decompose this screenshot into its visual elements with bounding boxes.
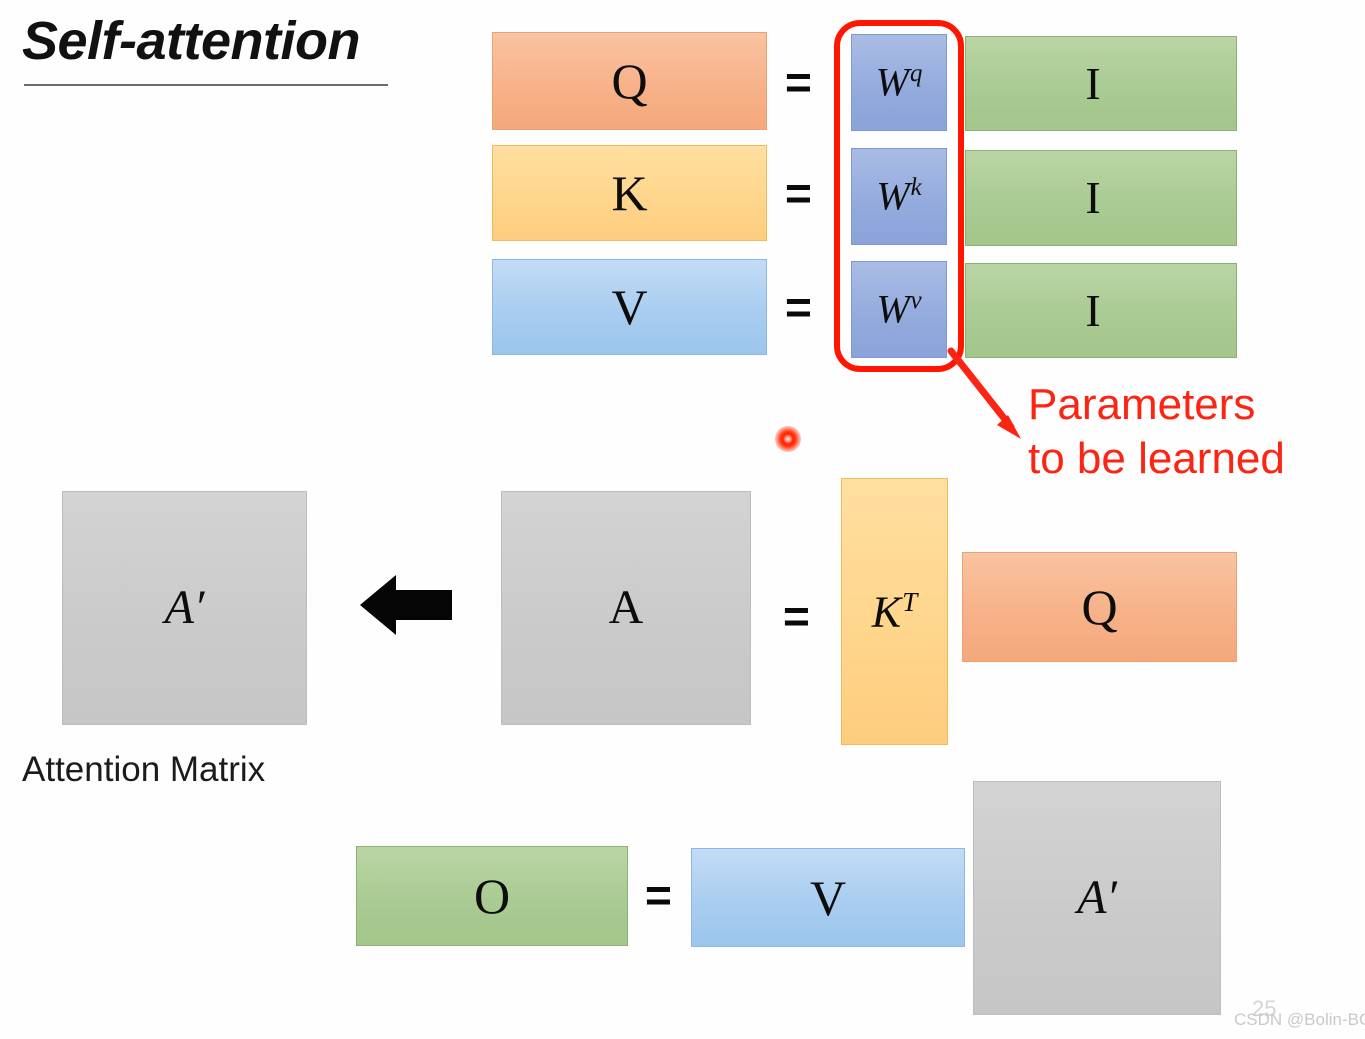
matrix-box-k: K xyxy=(492,145,767,241)
title-underline xyxy=(24,84,388,86)
matrix-box-v-top: V xyxy=(492,259,767,355)
matrix-label-q: Q xyxy=(611,56,647,106)
equals-sign-attention: = xyxy=(783,593,810,639)
weight-symbol-wk: W xyxy=(876,174,909,219)
matrix-box-a-prime-left: A′ xyxy=(62,491,307,725)
laser-pointer-dot xyxy=(775,426,801,452)
weight-symbol-wq: W xyxy=(876,60,909,105)
equals-sign-row3: = xyxy=(785,284,812,330)
matrix-box-i-row2: I xyxy=(965,150,1237,246)
matrix-label-a: A xyxy=(609,584,644,632)
weight-superscript-k: k xyxy=(911,174,922,201)
matrix-box-q-attention: Q xyxy=(962,552,1237,662)
page-title: Self-attention xyxy=(22,10,360,72)
transpose-superscript: T xyxy=(902,587,917,617)
matrix-box-q-top: Q xyxy=(492,32,767,130)
matrix-label-a-prime-output: A′ xyxy=(1077,874,1117,922)
equals-sign-row2: = xyxy=(785,170,812,216)
matrix-label-q-attention: Q xyxy=(1081,582,1117,632)
equals-sign-row1: = xyxy=(785,59,812,105)
watermark-text: CSDN @Bolin-BGI xyxy=(1234,1010,1365,1030)
matrix-box-v-output: V xyxy=(691,848,965,947)
matrix-box-a-prime-output: A′ xyxy=(973,781,1221,1015)
matrix-box-k-transpose: KT xyxy=(841,478,948,745)
left-arrow-icon xyxy=(360,572,454,638)
matrix-label-i-row1: I xyxy=(1085,61,1100,107)
matrix-box-wv: Wv xyxy=(851,261,947,358)
matrix-label-o: O xyxy=(474,871,510,921)
parameters-annotation-text: Parameters to be learned xyxy=(1028,378,1285,485)
weight-superscript-q: q xyxy=(910,60,922,87)
matrix-box-i-row3: I xyxy=(965,263,1237,358)
matrix-label-i-row2: I xyxy=(1085,175,1100,221)
matrix-label-a-prime-left: A′ xyxy=(165,584,205,632)
weight-symbol-wv: W xyxy=(876,287,909,332)
matrix-box-a: A xyxy=(501,491,751,725)
matrix-box-i-row1: I xyxy=(965,36,1237,131)
equals-sign-output: = xyxy=(645,872,672,918)
matrix-label-k: K xyxy=(611,168,647,218)
slide-canvas: Self-attention Q = Wq I K = Wk I V = Wv … xyxy=(0,0,1365,1039)
attention-matrix-caption: Attention Matrix xyxy=(22,750,265,790)
weight-superscript-v: v xyxy=(911,287,922,314)
matrix-label-k-transpose: K xyxy=(872,587,901,636)
matrix-box-o: O xyxy=(356,846,628,946)
matrix-label-v: V xyxy=(611,282,647,332)
matrix-label-i-row3: I xyxy=(1085,288,1100,334)
matrix-label-v-output: V xyxy=(810,873,846,923)
matrix-box-wq: Wq xyxy=(851,34,947,131)
matrix-box-wk: Wk xyxy=(851,148,947,245)
